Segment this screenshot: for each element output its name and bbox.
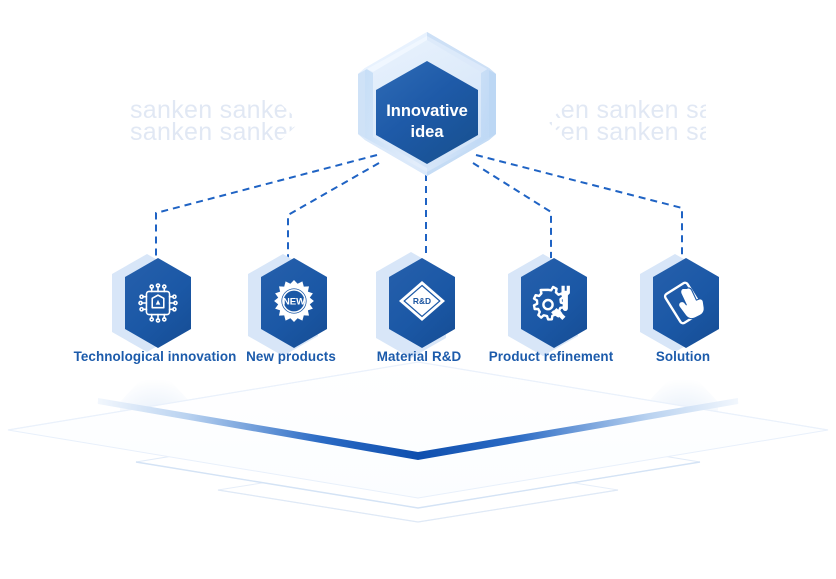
node-hexagon	[521, 258, 587, 348]
rd-text: R&D	[413, 296, 431, 306]
node-layer: Technological innovation NEW New product…	[0, 0, 836, 579]
new-badge-text: NEW	[283, 296, 306, 307]
node-label: Technological innovation	[74, 349, 237, 364]
node-solution[interactable]: Solution	[640, 254, 719, 364]
node-new-products[interactable]: NEW New products	[246, 254, 336, 364]
node-technological-innovation[interactable]: Technological innovation	[74, 254, 237, 364]
node-label: Material R&D	[377, 349, 462, 364]
node-label: New products	[246, 349, 336, 364]
node-label: Product refinement	[489, 349, 614, 364]
node-product-refinement[interactable]: Product refinement	[489, 254, 614, 364]
diagram-canvas: sanken sanken sa sanken sanken sa ken sa…	[0, 0, 836, 579]
node-material-rd[interactable]: R&D Material R&D	[376, 252, 461, 364]
node-label: Solution	[656, 349, 710, 364]
